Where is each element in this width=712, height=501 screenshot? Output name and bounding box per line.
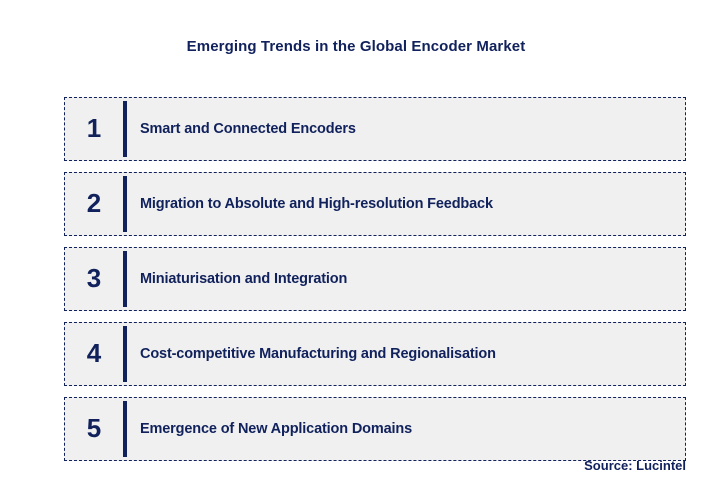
- list-item: 5 Emergence of New Application Domains: [64, 397, 686, 461]
- list-item: 4 Cost-competitive Manufacturing and Reg…: [64, 322, 686, 386]
- trend-number-badge: 3: [65, 265, 123, 293]
- trend-label: Migration to Absolute and High-resolutio…: [127, 196, 685, 213]
- trend-label: Miniaturisation and Integration: [127, 271, 685, 288]
- trend-label: Cost-competitive Manufacturing and Regio…: [127, 346, 685, 363]
- trend-label: Emergence of New Application Domains: [127, 421, 685, 438]
- trend-number-badge: 2: [65, 190, 123, 218]
- trend-list: 1 Smart and Connected Encoders 2 Migrati…: [64, 97, 686, 461]
- list-item: 2 Migration to Absolute and High-resolut…: [64, 172, 686, 236]
- trend-number-badge: 1: [65, 115, 123, 143]
- list-item: 3 Miniaturisation and Integration: [64, 247, 686, 311]
- trend-label: Smart and Connected Encoders: [127, 121, 685, 138]
- source-attribution: Source: Lucintel: [584, 458, 686, 473]
- page-title: Emerging Trends in the Global Encoder Ma…: [0, 38, 712, 55]
- list-item: 1 Smart and Connected Encoders: [64, 97, 686, 161]
- trend-number-badge: 5: [65, 415, 123, 443]
- infographic-canvas: Emerging Trends in the Global Encoder Ma…: [0, 0, 712, 501]
- trend-number-badge: 4: [65, 340, 123, 368]
